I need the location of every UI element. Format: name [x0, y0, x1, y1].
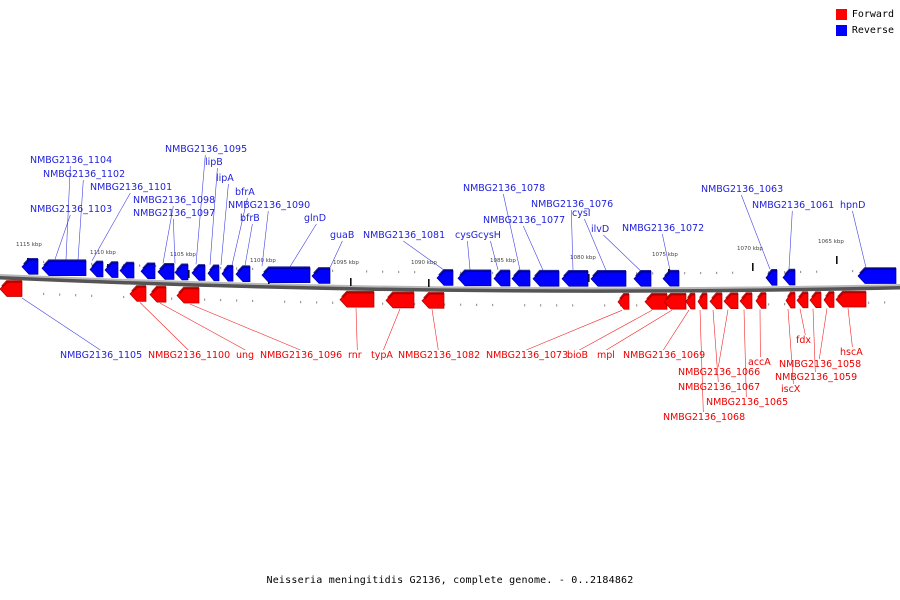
gene-feature[interactable]: NMBG2136_1076: [562, 271, 588, 286]
axis-major-tick: [428, 279, 430, 287]
legend-swatch-reverse: [836, 25, 847, 36]
gene-feature[interactable]: NMBG2136_1077: [533, 271, 559, 286]
gene-label[interactable]: NMBG2136_1096: [260, 350, 342, 361]
gene-feature[interactable]: NMBG2136_1096: [177, 288, 199, 303]
axis-tick-label: 1075 kbp: [652, 252, 678, 258]
gene-label[interactable]: NMBG2136_1072: [622, 223, 704, 234]
gene-feature[interactable]: glnD: [262, 268, 310, 283]
reverse-gene-labels[interactable]: NMBG2136_1104NMBG2136_1103NMBG2136_1102N…: [30, 144, 865, 241]
axis-tick-label: 1090 kbp: [411, 260, 437, 266]
axis-tick-label: 1100 kbp: [250, 258, 276, 264]
gene-label-connector: [663, 310, 689, 350]
forward-gene-features[interactable]: NMBG2136_1105NMBG2136_1100ungNMBG2136_10…: [0, 281, 866, 309]
gene-label-connector: [523, 226, 543, 270]
gene-label-connector: [356, 308, 357, 350]
gene-feature[interactable]: NMBG2136_1072: [663, 271, 679, 286]
axis-minor-tick: [492, 304, 493, 306]
gene-label-connector: [848, 308, 852, 347]
gene-feature[interactable]: NMBG2136_1104: [22, 259, 38, 274]
gene-feature[interactable]: accA: [756, 293, 766, 308]
gene-label[interactable]: bfrB: [240, 213, 260, 224]
gene-label[interactable]: iscX: [781, 384, 801, 395]
legend: Forward Reverse: [836, 8, 894, 40]
gene-label-connector: [467, 241, 470, 270]
gene-label-connector: [571, 210, 573, 270]
gene-label[interactable]: ilvD: [591, 224, 609, 235]
gene-label[interactable]: NMBG2136_1102: [43, 169, 125, 180]
gene-label[interactable]: NMBG2136_1098: [133, 195, 215, 206]
gene-label[interactable]: hpnD: [840, 200, 865, 211]
gene-label-connector: [432, 309, 438, 350]
axis-minor-tick: [139, 264, 140, 266]
gene-feature[interactable]: NMBG2136_1073: [618, 294, 629, 309]
gene-label[interactable]: NMBG2136_1068: [663, 412, 745, 423]
axis-minor-tick: [332, 270, 333, 272]
forward-gene-labels[interactable]: NMBG2136_1105NMBG2136_1100ungNMBG2136_10…: [60, 335, 863, 423]
gene-feature[interactable]: hscA: [836, 292, 866, 307]
gene-label[interactable]: cysG: [455, 230, 478, 241]
gene-feature[interactable]: NMBG2136_1095: [158, 264, 174, 279]
gene-feature[interactable]: NMBG2136_1090: [236, 267, 250, 282]
gene-label[interactable]: fdx: [796, 335, 811, 346]
gene-label[interactable]: NMBG2136_1065: [706, 397, 788, 408]
legend-item-reverse[interactable]: Reverse: [836, 24, 894, 37]
gene-label[interactable]: guaB: [330, 230, 354, 241]
axis-tick-label: 1080 kbp: [570, 255, 596, 261]
axis-tick-label: 1115 kbp: [16, 242, 42, 248]
gene-label[interactable]: NMBG2136_1059: [775, 372, 857, 383]
legend-label-forward: Forward: [852, 9, 894, 20]
axis-minor-tick: [366, 270, 367, 272]
gene-feature[interactable]: NMBG2136_1100: [130, 286, 146, 301]
gene-label[interactable]: NMBG2136_1104: [30, 155, 112, 166]
gene-feature[interactable]: NMBG2136_1082: [422, 293, 444, 308]
gene-label[interactable]: NMBG2136_1077: [483, 215, 565, 226]
gene-label[interactable]: NMBG2136_1066: [678, 367, 760, 378]
axis-minor-tick: [382, 303, 383, 305]
axis-minor-tick: [540, 304, 541, 306]
gene-label-connector: [383, 309, 400, 350]
gene-label[interactable]: NMBG2136_1101: [90, 182, 172, 193]
gene-feature[interactable]: NMBG2136_1101: [105, 262, 118, 277]
axis-minor-tick: [556, 304, 557, 306]
axis-minor-tick: [204, 299, 205, 301]
axis-minor-tick: [800, 271, 801, 273]
axis-minor-tick: [316, 301, 317, 303]
axis-tick-label: 1065 kbp: [818, 239, 844, 245]
gene-label[interactable]: bioB: [567, 350, 588, 361]
gene-label-connector: [800, 309, 805, 335]
axis-minor-tick: [43, 293, 44, 295]
legend-swatch-forward: [836, 9, 847, 20]
gene-label[interactable]: NMBG2136_1078: [463, 183, 545, 194]
axis-minor-tick: [816, 271, 817, 273]
figure-caption: Neisseria meningitidis G2136, complete g…: [0, 575, 900, 586]
gene-feature[interactable]: guaB: [312, 268, 330, 283]
gene-feature[interactable]: NMBG2136_1078: [512, 271, 530, 286]
gene-label-connector: [160, 303, 245, 350]
gene-label[interactable]: NMBG2136_1067: [678, 382, 760, 393]
gene-feature[interactable]: NMBG2136_1058: [824, 292, 834, 307]
gene-label[interactable]: NMBG2136_1103: [30, 204, 112, 215]
axis-minor-tick: [460, 304, 461, 306]
gene-label[interactable]: NMBG2136_1073: [486, 350, 568, 361]
gene-label[interactable]: hscA: [840, 347, 863, 358]
axis-minor-tick: [236, 267, 237, 269]
gene-label[interactable]: rnr: [348, 350, 362, 361]
axis-minor-tick: [398, 271, 399, 273]
gene-label-connector: [819, 308, 827, 359]
axis-minor-tick: [716, 272, 717, 274]
gene-label-connector: [526, 310, 622, 350]
axis-minor-tick: [236, 299, 237, 301]
axis-minor-tick: [332, 302, 333, 304]
axis-minor-tick: [220, 299, 221, 301]
axis-tick-label: 1070 kbp: [737, 246, 763, 252]
axis-minor-tick: [252, 268, 253, 270]
axis-minor-tick: [524, 304, 525, 306]
gene-label[interactable]: NMBG2136_1069: [623, 350, 705, 361]
gene-label-connector: [22, 298, 100, 350]
axis-minor-tick: [171, 298, 172, 300]
genome-map-canvas: 1115 kbp1110 kbp1105 kbp1100 kbp1095 kbp…: [0, 0, 900, 600]
gene-feature[interactable]: cysG: [458, 271, 491, 286]
axis-minor-tick: [414, 271, 415, 273]
gene-feature[interactable]: NMBG2136_1103: [42, 261, 86, 276]
gene-feature[interactable]: NMBG2136_1066: [724, 294, 738, 309]
gene-label-connector: [789, 211, 792, 269]
axis-minor-tick: [636, 304, 637, 306]
gene-label-connector: [140, 302, 188, 350]
gene-feature[interactable]: rnr: [340, 292, 374, 307]
gene-label[interactable]: NMBG2136_1100: [148, 350, 230, 361]
gene-feature[interactable]: lipA: [192, 265, 205, 280]
gene-label[interactable]: cysH: [478, 230, 501, 241]
axis-minor-tick: [382, 271, 383, 273]
axis-major-tick: [350, 278, 352, 286]
axis-minor-tick: [252, 300, 253, 302]
axis-tick-label: 1085 kbp: [490, 258, 516, 264]
axis-minor-tick: [768, 303, 769, 305]
axis-minor-tick: [284, 301, 285, 303]
axis-minor-tick: [604, 304, 605, 306]
gene-feature[interactable]: NMBG2136_1105: [0, 281, 22, 296]
gene-feature[interactable]: NMBG2136_1097: [141, 264, 155, 279]
gene-feature[interactable]: NMBG2136_1065: [740, 294, 752, 309]
gene-feature[interactable]: NMBG2136_1059: [810, 293, 821, 308]
gene-label-connector: [603, 235, 640, 270]
gene-feature[interactable]: bfrB: [222, 266, 233, 281]
axis-minor-tick: [652, 272, 653, 274]
gene-feature[interactable]: cysI: [591, 271, 626, 286]
axis-major-tick: [836, 256, 838, 264]
axis-minor-tick: [700, 272, 701, 274]
axis-minor-tick: [884, 301, 885, 303]
gene-label[interactable]: glnD: [304, 213, 326, 224]
gene-feature[interactable]: NMBG2136_1068: [698, 294, 707, 309]
gene-feature[interactable]: typA: [386, 293, 414, 308]
gene-label[interactable]: typA: [371, 350, 393, 361]
gene-label-connector: [78, 180, 83, 260]
gene-label-connector: [55, 215, 70, 259]
axis-tick-label: 1110 kbp: [90, 250, 116, 256]
gene-feature[interactable]: ung: [150, 287, 166, 302]
legend-label-reverse: Reverse: [852, 25, 894, 36]
gene-label-connector: [290, 224, 316, 267]
gene-feature[interactable]: NMBG2136_1081: [437, 270, 453, 285]
gene-feature[interactable]: cysH: [494, 271, 510, 286]
axis-minor-tick: [59, 293, 60, 295]
gene-label[interactable]: NMBG2136_1061: [752, 200, 834, 211]
gene-feature[interactable]: lipB: [175, 265, 188, 280]
axis-minor-tick: [220, 267, 221, 269]
axis-tick-label: 1105 kbp: [170, 252, 196, 258]
axis-major-tick: [752, 263, 754, 271]
axis-minor-tick: [43, 261, 44, 263]
legend-item-forward[interactable]: Forward: [836, 8, 894, 21]
gene-feature[interactable]: fdx: [797, 293, 808, 308]
gene-feature[interactable]: bfrA: [208, 266, 219, 281]
gene-label[interactable]: bfrA: [235, 187, 255, 198]
genome-feature-map[interactable]: 1115 kbp1110 kbp1105 kbp1100 kbp1095 kbp…: [0, 0, 900, 600]
axis-minor-tick: [91, 263, 92, 265]
axis-minor-tick: [868, 302, 869, 304]
axis-minor-tick: [476, 304, 477, 306]
gene-label-connector: [852, 211, 866, 268]
gene-label[interactable]: lipA: [216, 173, 234, 184]
gene-label[interactable]: NMBG2136_1090: [228, 200, 310, 211]
gene-feature[interactable]: NMBG2136_1063: [766, 270, 777, 285]
axis-minor-tick: [684, 272, 685, 274]
axis-minor-tick: [91, 295, 92, 297]
axis-minor-tick: [572, 304, 573, 306]
gene-label[interactable]: NMBG2136_1081: [363, 230, 445, 241]
gene-label[interactable]: NMBG2136_1063: [701, 184, 783, 195]
gene-feature[interactable]: iscX: [786, 293, 795, 308]
axis-minor-tick: [784, 303, 785, 305]
gene-label[interactable]: NMBG2136_1105: [60, 350, 142, 361]
axis-minor-tick: [784, 271, 785, 273]
gene-feature[interactable]: hpnD: [858, 268, 896, 283]
axis-minor-tick: [852, 270, 853, 272]
gene-label-connector: [221, 184, 228, 265]
gene-feature[interactable]: NMBG2136_1098: [120, 263, 134, 278]
gene-feature[interactable]: NMBG2136_1069: [686, 294, 695, 309]
axis-tick-label: 1095 kbp: [333, 260, 359, 266]
gene-label-connector: [718, 310, 728, 367]
gene-feature[interactable]: NMBG2136_1067: [710, 294, 722, 309]
gene-label-connector: [190, 304, 300, 350]
gene-label[interactable]: accA: [748, 357, 771, 368]
axis-minor-tick: [732, 272, 733, 274]
gene-label-connector: [490, 241, 498, 270]
gene-label[interactable]: NMBG2136_1095: [165, 144, 247, 155]
gene-label[interactable]: lipB: [205, 157, 223, 168]
gene-label[interactable]: mpl: [597, 350, 615, 361]
gene-label[interactable]: NMBG2136_1082: [398, 350, 480, 361]
gene-label[interactable]: cysI: [572, 208, 591, 219]
axis-minor-tick: [300, 301, 301, 303]
gene-label[interactable]: NMBG2136_1097: [133, 208, 215, 219]
axis-minor-tick: [75, 294, 76, 296]
axis-minor-tick: [123, 296, 124, 298]
gene-label[interactable]: NMBG2136_1058: [779, 359, 861, 370]
gene-label[interactable]: ung: [236, 350, 254, 361]
axis-minor-tick: [492, 272, 493, 274]
